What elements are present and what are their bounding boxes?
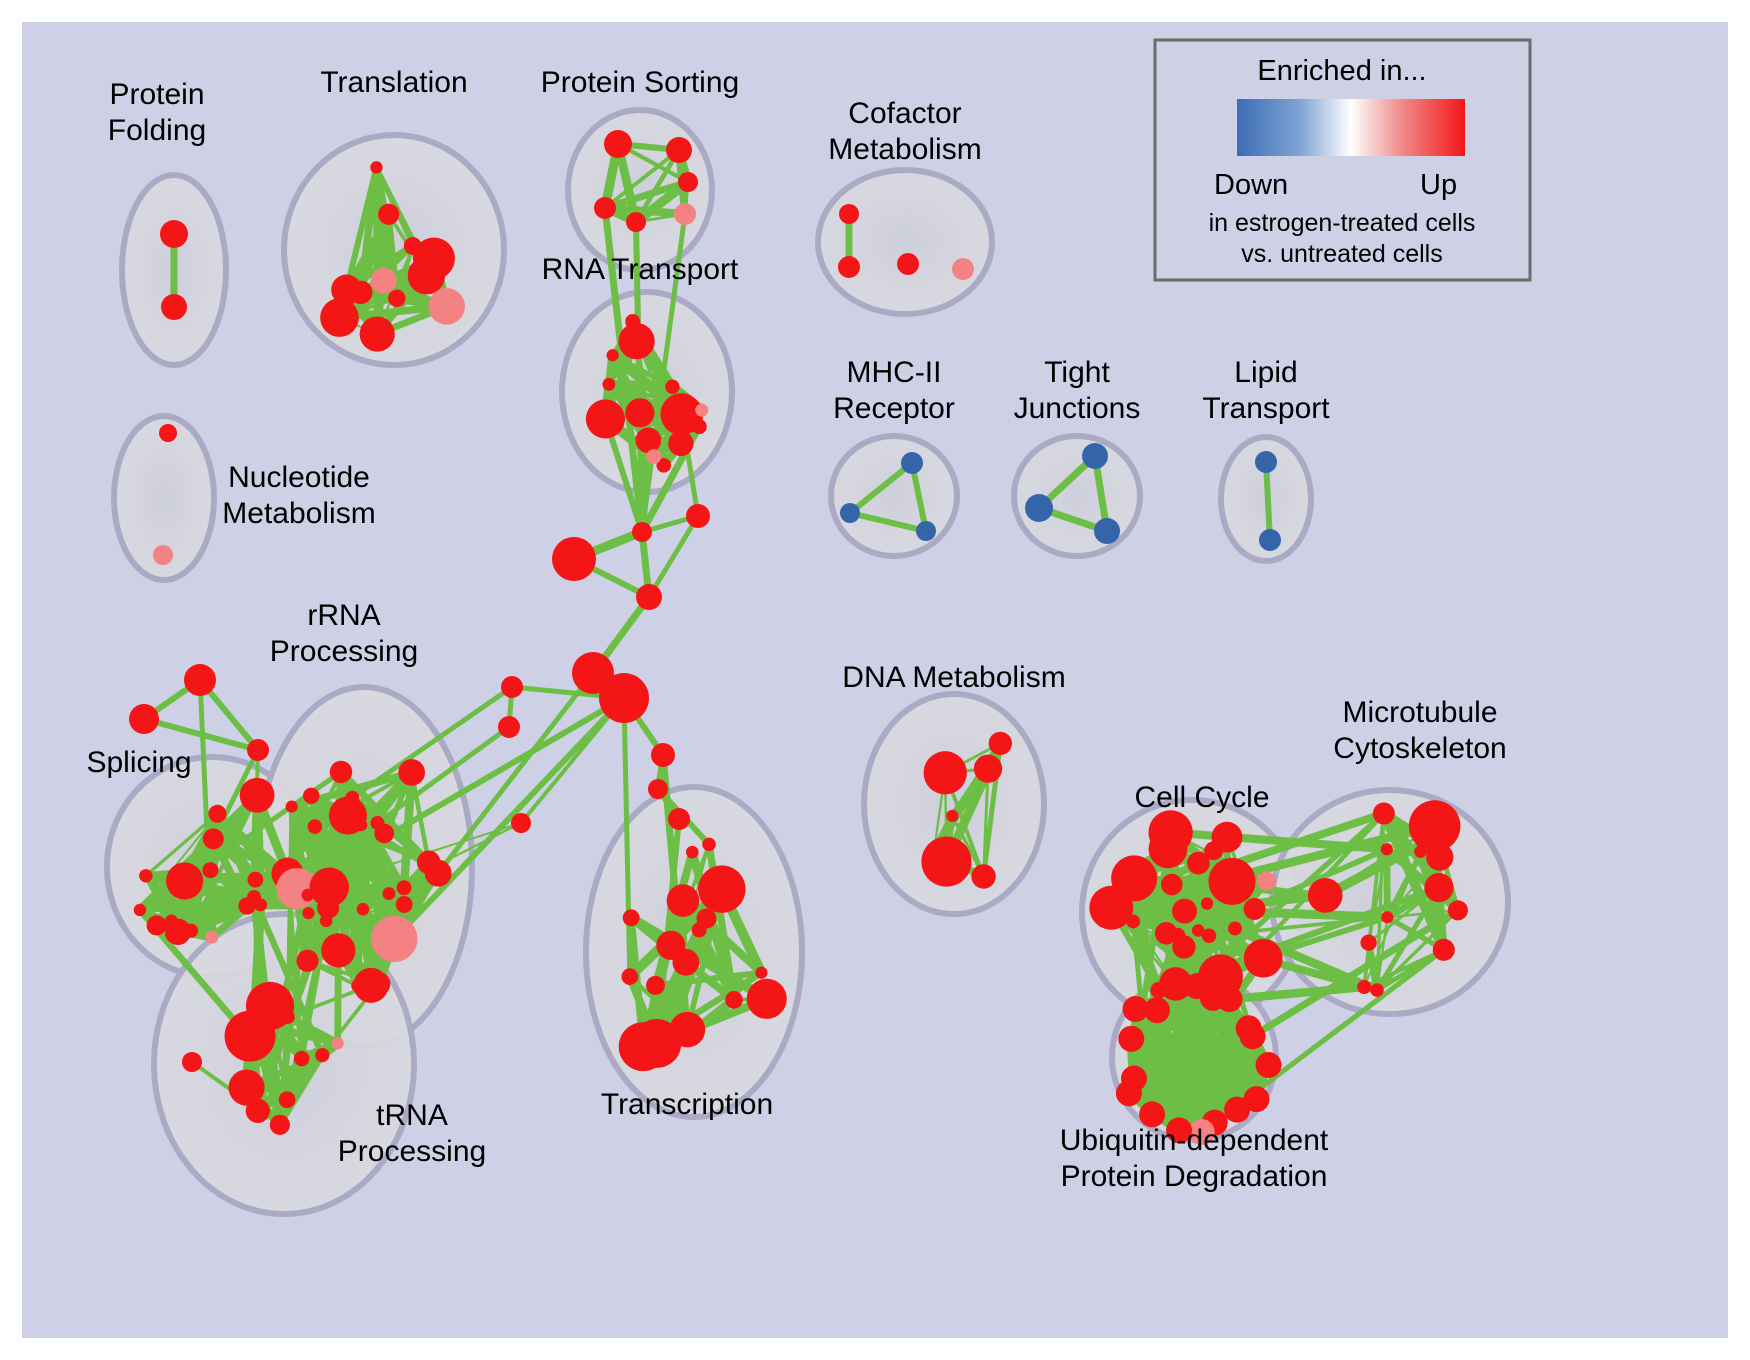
- network-node-mhc-ii[interactable]: [916, 521, 936, 541]
- legend-panel: Enriched in... Down Up in estrogen-treat…: [1155, 40, 1530, 280]
- network-node-transcription[interactable]: [725, 991, 743, 1009]
- network-node-protein-sorting[interactable]: [666, 137, 692, 163]
- network-node-ubiquitin[interactable]: [1118, 1026, 1144, 1052]
- network-node-splicing[interactable]: [254, 898, 267, 911]
- network-node-rrna-processing[interactable]: [330, 761, 352, 783]
- network-node-microtubule[interactable]: [1370, 983, 1384, 997]
- network-node-bridge[interactable]: [501, 676, 523, 698]
- network-node-lipid-transport[interactable]: [1259, 529, 1281, 551]
- network-node-transcription[interactable]: [692, 922, 707, 937]
- network-node-translation[interactable]: [428, 288, 465, 325]
- network-node-rna-transport[interactable]: [668, 431, 693, 456]
- network-node-splicing[interactable]: [165, 915, 178, 928]
- cluster-label-rrna-processing: rRNAProcessing: [270, 599, 418, 668]
- network-node-splicing[interactable]: [208, 805, 226, 823]
- network-node-dna-metabolism[interactable]: [924, 751, 967, 794]
- network-node-protein-sorting[interactable]: [626, 212, 646, 232]
- network-node-microtubule[interactable]: [1381, 843, 1393, 855]
- network-node-rrna-processing[interactable]: [321, 933, 355, 967]
- network-node-cell-cycle[interactable]: [1201, 897, 1213, 909]
- network-node-trna-processing[interactable]: [315, 1048, 329, 1062]
- network-node-mhc-ii[interactable]: [840, 503, 860, 523]
- network-node-ubiquitin[interactable]: [1217, 986, 1243, 1012]
- network-node-rna-transport[interactable]: [619, 323, 655, 359]
- network-node-transcription[interactable]: [755, 967, 767, 979]
- network-node-rna-transport[interactable]: [607, 349, 619, 361]
- legend-color-bar: [1237, 99, 1465, 156]
- network-node-trna-processing[interactable]: [332, 1037, 344, 1049]
- network-node-trna-processing[interactable]: [270, 1115, 290, 1135]
- network-node-trna-processing[interactable]: [281, 1010, 295, 1024]
- cluster-label-cell-cycle: Cell Cycle: [1134, 781, 1269, 814]
- network-node-cofactor[interactable]: [952, 258, 974, 280]
- network-node-rna-transport[interactable]: [602, 378, 615, 391]
- network-node-dna-metabolism[interactable]: [974, 755, 1002, 783]
- network-node-cofactor[interactable]: [838, 256, 860, 278]
- network-node-dna-metabolism[interactable]: [921, 837, 971, 887]
- network-node-trna-processing[interactable]: [279, 1091, 296, 1108]
- network-node-cell-cycle[interactable]: [1170, 928, 1185, 943]
- network-node-splicing[interactable]: [202, 862, 218, 878]
- network-node-rrna-processing[interactable]: [397, 880, 412, 895]
- network-node-rrna-processing[interactable]: [308, 819, 322, 833]
- cluster-ellipse-cofactor[interactable]: [818, 170, 992, 314]
- cluster-label-protein-sorting: Protein Sorting: [541, 66, 739, 99]
- cluster-label-ubiquitin: Ubiquitin-dependentProtein Degradation: [1060, 1124, 1329, 1193]
- network-node-rna-transport[interactable]: [586, 399, 625, 438]
- network-node-nucleotide[interactable]: [153, 545, 173, 565]
- network-node-bridge[interactable]: [552, 537, 596, 581]
- cluster-label-cofactor: CofactorMetabolism: [828, 97, 981, 166]
- network-node-rna-transport[interactable]: [625, 398, 654, 427]
- network-node-microtubule[interactable]: [1381, 911, 1393, 923]
- network-node-cell-cycle[interactable]: [1172, 899, 1197, 924]
- network-node-dna-metabolism[interactable]: [928, 847, 940, 859]
- network-node-translation[interactable]: [413, 237, 455, 279]
- network-node-rrna-processing[interactable]: [351, 980, 363, 992]
- network-node-translation[interactable]: [378, 204, 399, 225]
- network-node-cell-cycle[interactable]: [1204, 841, 1223, 860]
- cluster-label-protein-folding: ProteinFolding: [108, 78, 206, 147]
- cluster-label-nucleotide: NucleotideMetabolism: [222, 461, 375, 530]
- network-node-ubiquitin[interactable]: [1256, 1052, 1282, 1078]
- network-node-cell-cycle[interactable]: [1192, 924, 1205, 937]
- network-node-cell-cycle[interactable]: [1257, 871, 1276, 890]
- network-node-cell-cycle[interactable]: [1244, 939, 1283, 978]
- network-node-bridge[interactable]: [668, 808, 690, 830]
- network-node-cofactor[interactable]: [839, 204, 859, 224]
- legend-down-label: Down: [1214, 169, 1288, 201]
- network-node-rrna-processing[interactable]: [286, 801, 298, 813]
- network-edge: [438, 673, 593, 873]
- network-node-mhc-ii[interactable]: [901, 452, 923, 474]
- network-edge: [1176, 984, 1179, 1130]
- network-node-translation[interactable]: [320, 298, 359, 337]
- network-node-splicing[interactable]: [147, 915, 167, 935]
- network-node-cell-cycle[interactable]: [1208, 858, 1255, 905]
- figure-stage: ProteinFoldingTranslationProtein Sorting…: [0, 0, 1750, 1360]
- network-node-rrna-processing[interactable]: [417, 850, 441, 874]
- network-node-cell-cycle[interactable]: [1161, 874, 1183, 896]
- network-node-bridge[interactable]: [498, 716, 520, 738]
- network-node-rrna-processing[interactable]: [355, 819, 367, 831]
- cluster-label-lipid-transport: LipidTransport: [1202, 356, 1330, 425]
- network-node-rrna-processing[interactable]: [398, 759, 425, 786]
- network-node-cofactor[interactable]: [897, 253, 919, 275]
- network-node-transcription[interactable]: [686, 846, 699, 859]
- network-node-rna-transport[interactable]: [646, 449, 661, 464]
- network-node-bridge[interactable]: [129, 704, 159, 734]
- network-svg: ProteinFoldingTranslationProtein Sorting…: [22, 22, 1728, 1338]
- cluster-label-transcription: Transcription: [601, 1088, 773, 1121]
- network-node-ubiquitin[interactable]: [1224, 1097, 1250, 1123]
- network-canvas: ProteinFoldingTranslationProtein Sorting…: [22, 22, 1728, 1338]
- network-node-cell-cycle[interactable]: [1113, 874, 1125, 886]
- network-node-splicing[interactable]: [240, 778, 275, 813]
- cluster-ellipse-mhc-ii[interactable]: [831, 436, 957, 556]
- network-node-cell-cycle[interactable]: [1126, 915, 1140, 929]
- network-node-rrna-processing[interactable]: [357, 903, 370, 916]
- network-node-dna-metabolism[interactable]: [989, 732, 1012, 755]
- network-node-splicing[interactable]: [238, 897, 255, 914]
- network-node-ubiquitin[interactable]: [1144, 997, 1170, 1023]
- network-node-trna-processing[interactable]: [294, 1051, 310, 1067]
- network-node-microtubule[interactable]: [1424, 873, 1453, 902]
- network-node-bridge[interactable]: [648, 779, 668, 799]
- network-node-rna-transport[interactable]: [635, 427, 661, 453]
- network-node-protein-folding[interactable]: [161, 294, 187, 320]
- network-edge: [1266, 462, 1270, 540]
- network-node-microtubule[interactable]: [1360, 934, 1376, 950]
- network-node-microtubule[interactable]: [1373, 803, 1395, 825]
- legend-subtitle-line1: in estrogen-treated cells: [1209, 209, 1476, 237]
- network-node-transcription[interactable]: [698, 865, 745, 912]
- cluster-label-tight-junctions: TightJunctions: [1014, 356, 1141, 425]
- network-node-rrna-processing[interactable]: [374, 824, 394, 844]
- network-node-bridge[interactable]: [182, 1052, 202, 1072]
- network-node-microtubule[interactable]: [1414, 845, 1426, 857]
- network-node-bridge[interactable]: [651, 743, 675, 767]
- network-node-transcription[interactable]: [702, 838, 716, 852]
- network-node-nucleotide[interactable]: [159, 424, 177, 442]
- network-node-cell-cycle[interactable]: [1148, 810, 1192, 854]
- network-node-rrna-processing[interactable]: [382, 887, 395, 900]
- network-node-ubiquitin[interactable]: [1121, 1066, 1147, 1092]
- network-node-translation[interactable]: [371, 268, 397, 294]
- network-node-protein-folding[interactable]: [160, 220, 188, 248]
- network-node-rrna-processing[interactable]: [302, 907, 314, 919]
- network-node-translation[interactable]: [370, 161, 382, 173]
- network-node-cell-cycle[interactable]: [1244, 898, 1266, 920]
- network-node-bridge[interactable]: [632, 522, 652, 542]
- network-node-transcription[interactable]: [623, 909, 640, 926]
- network-node-splicing[interactable]: [134, 904, 146, 916]
- network-node-rrna-processing[interactable]: [296, 950, 318, 972]
- network-node-microtubule[interactable]: [1409, 800, 1461, 852]
- cluster-label-rna-transport: RNA Transport: [542, 253, 739, 286]
- network-node-bridge[interactable]: [686, 504, 710, 528]
- cluster-label-microtubule: MicrotubuleCytoskeleton: [1333, 696, 1506, 765]
- network-node-rna-transport[interactable]: [681, 404, 696, 419]
- cluster-label-translation: Translation: [320, 66, 467, 99]
- network-node-bridge[interactable]: [599, 673, 649, 723]
- network-node-bridge[interactable]: [247, 739, 269, 761]
- network-node-bridge[interactable]: [184, 664, 216, 696]
- network-node-microtubule[interactable]: [1308, 878, 1343, 913]
- network-node-microtubule[interactable]: [1433, 939, 1455, 961]
- network-node-trna-processing[interactable]: [225, 1011, 276, 1062]
- network-node-splicing[interactable]: [178, 923, 193, 938]
- network-node-transcription[interactable]: [646, 976, 665, 995]
- network-node-transcription[interactable]: [667, 884, 700, 917]
- network-node-splicing[interactable]: [205, 931, 218, 944]
- network-node-splicing[interactable]: [247, 872, 263, 888]
- network-node-protein-sorting[interactable]: [678, 172, 698, 192]
- network-node-cell-cycle[interactable]: [1228, 922, 1242, 936]
- network-node-rna-transport[interactable]: [695, 404, 708, 417]
- network-node-translation[interactable]: [388, 290, 405, 307]
- network-node-dna-metabolism[interactable]: [946, 810, 958, 822]
- legend-title: Enriched in...: [1257, 55, 1426, 87]
- network-node-splicing[interactable]: [203, 828, 224, 849]
- network-node-rrna-processing[interactable]: [310, 867, 349, 906]
- network-node-splicing[interactable]: [166, 862, 203, 899]
- network-node-splicing[interactable]: [139, 869, 152, 882]
- network-node-protein-sorting[interactable]: [604, 130, 632, 158]
- network-node-rrna-processing[interactable]: [396, 896, 413, 913]
- legend-subtitle-line2: vs. untreated cells: [1241, 240, 1443, 268]
- cluster-label-splicing: Splicing: [86, 746, 191, 779]
- network-node-tight-junctions[interactable]: [1025, 494, 1053, 522]
- network-node-rrna-processing[interactable]: [365, 988, 378, 1001]
- network-node-microtubule[interactable]: [1448, 900, 1468, 920]
- network-node-protein-sorting[interactable]: [674, 203, 696, 225]
- network-node-microtubule[interactable]: [1357, 980, 1371, 994]
- cluster-label-mhc-ii: MHC-IIReceptor: [833, 356, 955, 425]
- network-node-trna-processing[interactable]: [229, 1069, 265, 1105]
- network-node-ubiquitin[interactable]: [1240, 1023, 1266, 1049]
- network-node-tight-junctions[interactable]: [1082, 443, 1108, 469]
- network-node-translation[interactable]: [360, 316, 395, 351]
- cluster-label-dna-metabolism: DNA Metabolism: [842, 661, 1065, 694]
- legend-up-label: Up: [1420, 169, 1457, 201]
- network-node-dna-metabolism[interactable]: [971, 864, 995, 888]
- network-node-rrna-processing[interactable]: [371, 916, 417, 962]
- network-node-bridge[interactable]: [636, 584, 662, 610]
- network-node-transcription[interactable]: [747, 979, 787, 1019]
- network-node-transcription[interactable]: [619, 1022, 668, 1071]
- network-node-tight-junctions[interactable]: [1094, 518, 1120, 544]
- network-node-transcription[interactable]: [672, 949, 699, 976]
- network-node-transcription[interactable]: [621, 968, 638, 985]
- network-node-lipid-transport[interactable]: [1255, 451, 1277, 473]
- network-node-rna-transport[interactable]: [665, 380, 679, 394]
- network-node-rrna-processing[interactable]: [303, 788, 319, 804]
- network-node-protein-sorting[interactable]: [594, 197, 616, 219]
- network-node-bridge[interactable]: [511, 813, 531, 833]
